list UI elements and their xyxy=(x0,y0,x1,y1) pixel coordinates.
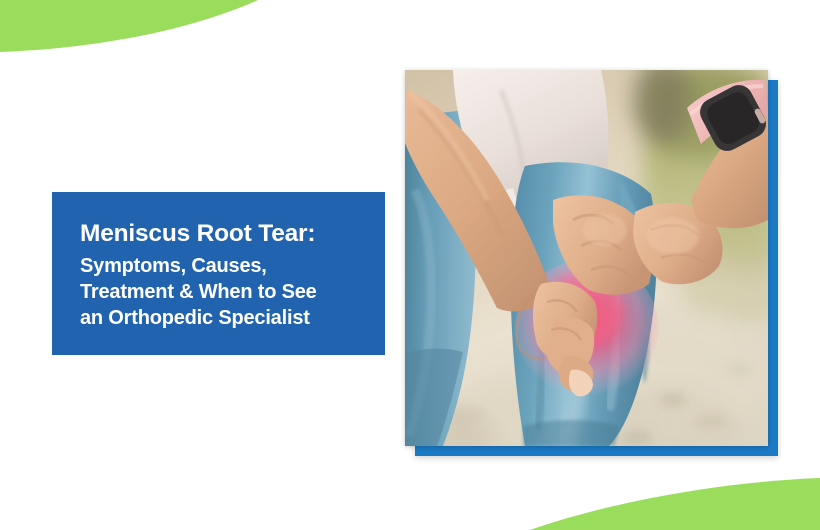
page-subtitle-line-1: Symptoms, Causes, xyxy=(80,253,359,279)
green-wave-top-left xyxy=(0,0,300,120)
knee-pain-illustration xyxy=(405,70,768,446)
banner-canvas: Meniscus Root Tear: Symptoms, Causes, Tr… xyxy=(0,0,820,530)
title-card: Meniscus Root Tear: Symptoms, Causes, Tr… xyxy=(52,192,385,355)
page-subtitle-line-3: an Orthopedic Specialist xyxy=(80,305,359,331)
page-subtitle-line-2: Treatment & When to See xyxy=(80,279,359,305)
knee-pain-photo xyxy=(405,70,768,446)
page-title: Meniscus Root Tear: xyxy=(80,218,359,250)
hero-image-block xyxy=(405,70,768,446)
